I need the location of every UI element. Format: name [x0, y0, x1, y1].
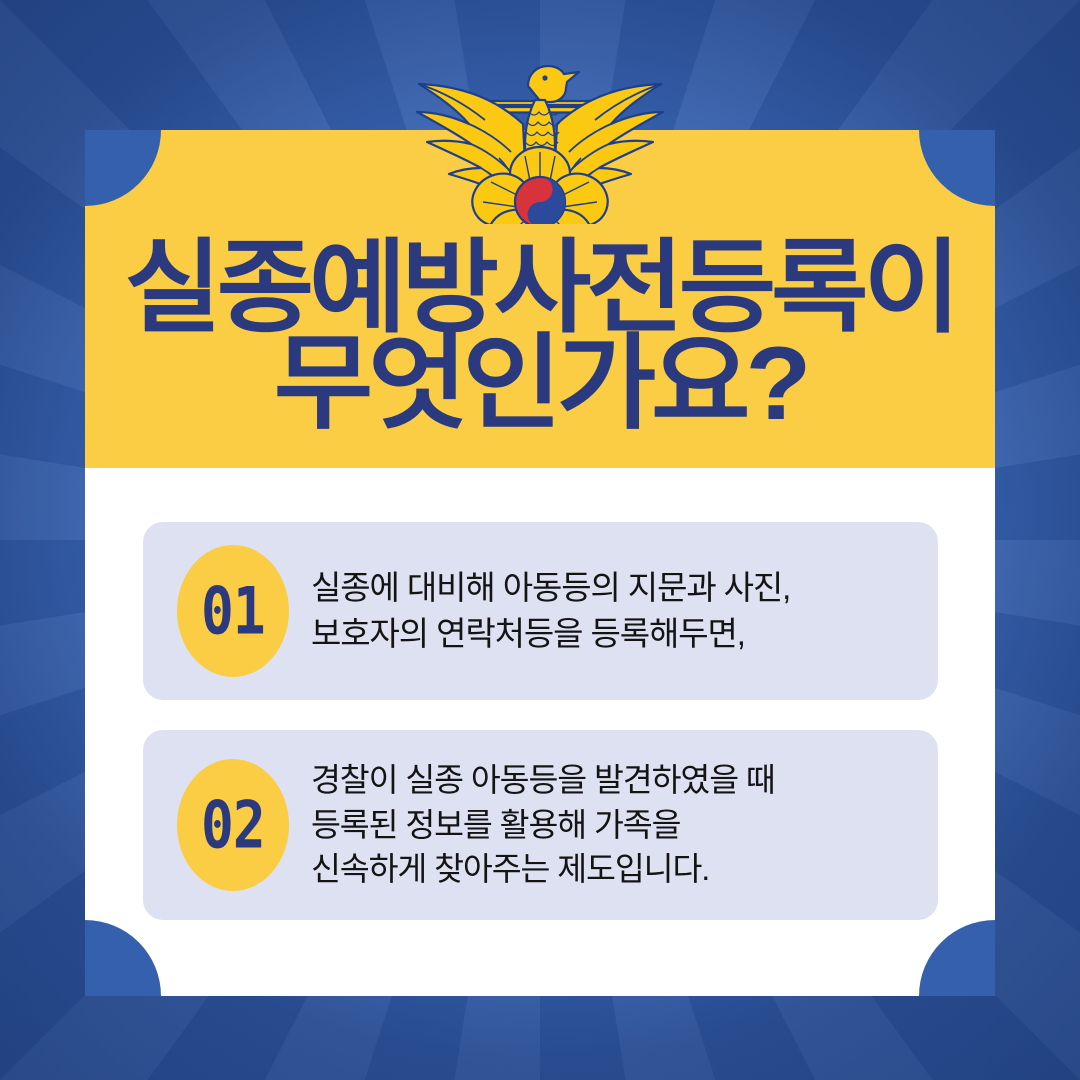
card-text: 실종에 대비해 아동등의 지문과 사진, 보호자의 연락처등을 등록해두면,	[311, 565, 790, 657]
card-text: 경찰이 실종 아동등을 발견하였을 때 등록된 정보를 활용해 가족을 신속하게…	[311, 758, 775, 893]
step-badge: 02	[177, 759, 289, 891]
card-text-line: 신속하게 찾아주는 제도입니다.	[311, 847, 775, 892]
card-text-line: 보호자의 연락처등을 등록해두면,	[311, 611, 790, 657]
info-card-list: 01 실종에 대비해 아동등의 지문과 사진, 보호자의 연락처등을 등록해두면…	[143, 522, 938, 920]
step-number: 01	[201, 573, 265, 649]
taegeuk-icon	[515, 177, 565, 224]
poster-canvas: 실종예방사전등록이 무엇인가요? 01 실종에 대비해 아동등의 지문과 사진,…	[0, 0, 1080, 1080]
info-card: 02 경찰이 실종 아동등을 발견하였을 때 등록된 정보를 활용해 가족을 신…	[143, 730, 938, 920]
step-number: 02	[201, 787, 265, 863]
card-text-line: 등록된 정보를 활용해 가족을	[311, 803, 775, 848]
title-line-2: 무엇인가요?	[67, 333, 1013, 436]
card-text-line: 실종에 대비해 아동등의 지문과 사진,	[311, 565, 790, 611]
card-text-line: 경찰이 실종 아동등을 발견하였을 때	[311, 758, 775, 803]
title-line-1: 실종예방사전등록이	[67, 238, 1013, 339]
police-emblem-icon	[395, 62, 685, 224]
page-title: 실종예방사전등록이 무엇인가요?	[85, 238, 995, 436]
step-badge: 01	[177, 545, 289, 677]
info-card: 01 실종에 대비해 아동등의 지문과 사진, 보호자의 연락처등을 등록해두면…	[143, 522, 938, 700]
content-panel: 실종예방사전등록이 무엇인가요? 01 실종에 대비해 아동등의 지문과 사진,…	[85, 130, 995, 996]
